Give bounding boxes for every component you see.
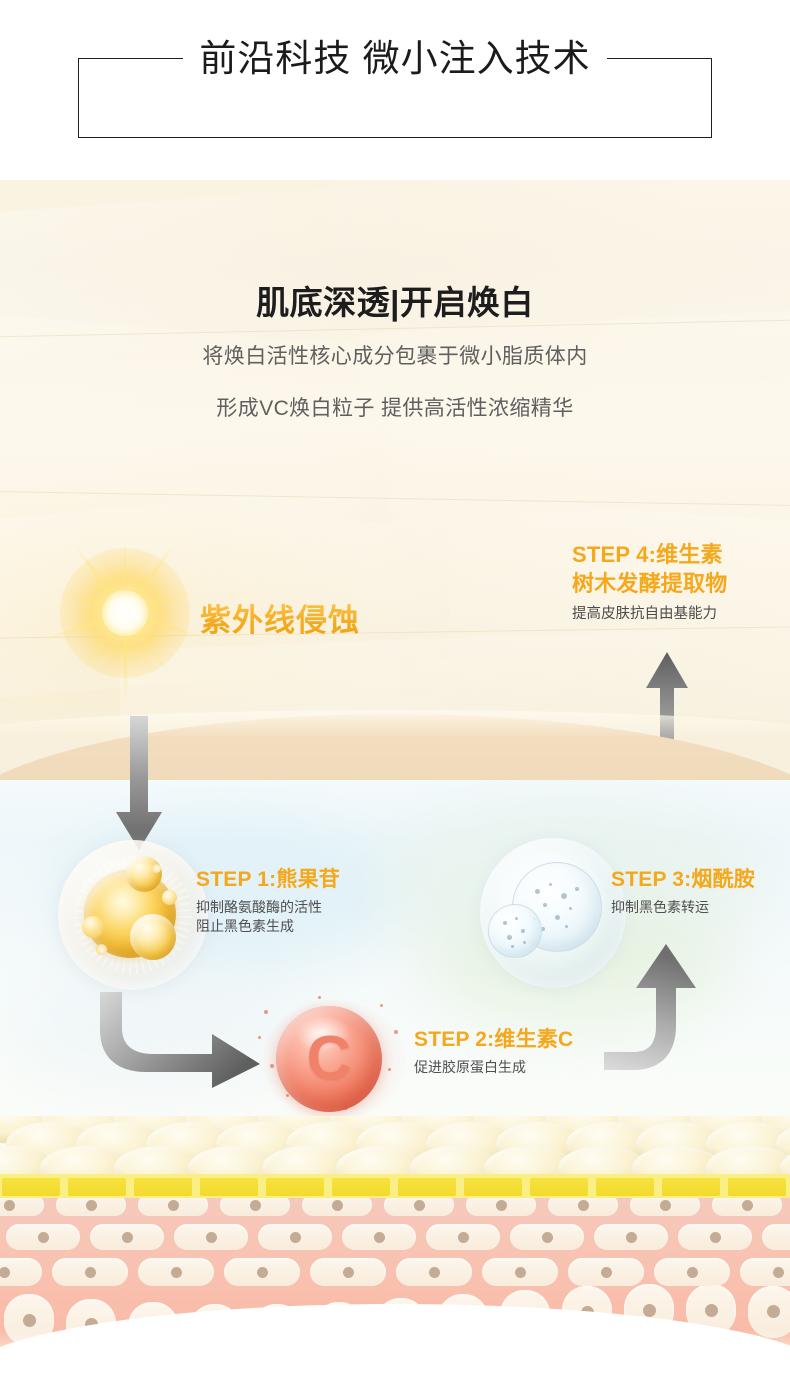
sphere-inner-small bbox=[488, 904, 542, 958]
cell-nucleus bbox=[343, 1267, 354, 1278]
dermis-cell bbox=[510, 1224, 584, 1250]
cell-nucleus bbox=[710, 1232, 721, 1243]
basal-cell-brick bbox=[266, 1178, 324, 1196]
hero-subtitle-1: 将焕白活性核心成分包裹于微小脂质体内 bbox=[0, 342, 790, 372]
infographic-page: 前沿科技 微小注入技术 肌底深透|开启焕白 将焕白活性核心成分包裹于微小脂质体内… bbox=[0, 0, 790, 1386]
cell-nucleus bbox=[206, 1232, 217, 1243]
cell-nucleus bbox=[414, 1200, 425, 1211]
header-title-wrap: 前沿科技 微小注入技术 bbox=[0, 28, 790, 90]
step-4-block: STEP 4:维生素 树木发酵提取物 提高皮肤抗自由基能力 bbox=[572, 540, 782, 624]
dermis-cell bbox=[630, 1198, 700, 1216]
step-2-vitamin-c-sphere: C bbox=[276, 1006, 382, 1112]
dermis-cell bbox=[6, 1224, 80, 1250]
basal-cell-brick bbox=[2, 1178, 60, 1196]
sphere-bubble bbox=[162, 890, 177, 905]
basal-cell-brick bbox=[68, 1178, 126, 1196]
dermis-cell bbox=[258, 1224, 332, 1250]
dermis-cell bbox=[138, 1258, 214, 1286]
basal-cell-brick bbox=[200, 1178, 258, 1196]
cell-nucleus bbox=[515, 1267, 526, 1278]
dermis-cell bbox=[396, 1258, 472, 1286]
dermis-cell bbox=[678, 1224, 752, 1250]
step-1-description-line-2: 阻止黑色素生成 bbox=[196, 917, 340, 936]
basal-cell-brick bbox=[530, 1178, 588, 1196]
cell-nucleus bbox=[257, 1267, 268, 1278]
step-2-block: STEP 2:维生素C 促进胶原蛋白生成 bbox=[414, 1026, 573, 1077]
cell-nucleus bbox=[0, 1267, 10, 1278]
arrow-curve-right-icon bbox=[100, 992, 264, 1088]
cell-nucleus bbox=[38, 1232, 49, 1243]
dermis-cell bbox=[220, 1198, 290, 1216]
sun-burst-icon bbox=[40, 528, 210, 698]
step-1-title: STEP 1:熊果苷 bbox=[196, 866, 340, 894]
step-3-description: 抑制黑色素转运 bbox=[611, 898, 755, 917]
cell-nucleus bbox=[687, 1267, 698, 1278]
cell-nucleus bbox=[742, 1200, 753, 1211]
basal-cell-brick bbox=[398, 1178, 456, 1196]
dermis-cell bbox=[466, 1198, 536, 1216]
page-title: 前沿科技 微小注入技术 bbox=[183, 29, 606, 89]
dermis-cell bbox=[310, 1258, 386, 1286]
cell-nucleus bbox=[705, 1304, 718, 1317]
step-1-description-line-1: 抑制酪氨酸酶的活性 bbox=[196, 898, 340, 917]
cell-nucleus bbox=[767, 1305, 780, 1318]
cell-nucleus bbox=[542, 1232, 553, 1243]
uv-erosion-label: 紫外线侵蚀 bbox=[200, 601, 360, 641]
cell-nucleus bbox=[496, 1200, 507, 1211]
cell-nucleus bbox=[374, 1232, 385, 1243]
basal-cell-brick bbox=[728, 1178, 786, 1196]
bottom-fade bbox=[0, 1330, 790, 1386]
basal-cell-brick bbox=[596, 1178, 654, 1196]
step-2-description: 促进胶原蛋白生成 bbox=[414, 1058, 573, 1077]
dermis-cell bbox=[224, 1258, 300, 1286]
sphere-bubble bbox=[152, 864, 161, 873]
vitamin-c-letter: C bbox=[276, 1006, 382, 1112]
cell-nucleus bbox=[660, 1200, 671, 1211]
dermis-cell bbox=[384, 1198, 454, 1216]
sphere-bubble bbox=[96, 944, 107, 955]
cell-nucleus bbox=[85, 1267, 96, 1278]
dermis-cell bbox=[654, 1258, 730, 1286]
basal-membrane-band bbox=[0, 1174, 790, 1200]
cell-nucleus bbox=[773, 1267, 784, 1278]
cell-nucleus bbox=[122, 1232, 133, 1243]
cell-nucleus bbox=[23, 1314, 36, 1327]
dermis-cell bbox=[548, 1198, 618, 1216]
step-4-title-line-1: STEP 4:维生素 bbox=[572, 540, 782, 569]
cell-nucleus bbox=[458, 1232, 469, 1243]
dermis-cell bbox=[594, 1224, 668, 1250]
basal-cell-brick bbox=[464, 1178, 522, 1196]
step-1-liposome-sphere bbox=[58, 840, 208, 990]
sphere-bubble bbox=[82, 916, 104, 938]
basal-cell-brick bbox=[332, 1178, 390, 1196]
dermis-cell bbox=[174, 1224, 248, 1250]
cell-nucleus bbox=[168, 1200, 179, 1211]
step-3-block: STEP 3:烟酰胺 抑制黑色素转运 bbox=[611, 866, 755, 917]
cell-nucleus bbox=[250, 1200, 261, 1211]
hero-subtitle-2: 形成VC焕白粒子 提供高活性浓缩精华 bbox=[0, 394, 790, 424]
step-4-title-line-2: 树木发酵提取物 bbox=[572, 569, 782, 598]
hero-heading: 肌底深透|开启焕白 bbox=[0, 283, 790, 323]
dermis-cell bbox=[0, 1258, 42, 1286]
dermis-cell bbox=[56, 1198, 126, 1216]
cell-nucleus bbox=[601, 1267, 612, 1278]
dermis-cell bbox=[0, 1198, 44, 1216]
cell-nucleus bbox=[626, 1232, 637, 1243]
basal-cell-brick bbox=[662, 1178, 720, 1196]
dermis-cell bbox=[740, 1258, 790, 1286]
dermis-cell bbox=[138, 1198, 208, 1216]
cell-nucleus bbox=[429, 1267, 440, 1278]
arrow-down-icon bbox=[112, 716, 166, 856]
cell-nucleus bbox=[86, 1200, 97, 1211]
cell-nucleus bbox=[578, 1200, 589, 1211]
sphere-bubble bbox=[126, 856, 162, 892]
cell-nucleus bbox=[332, 1200, 343, 1211]
cell-nucleus bbox=[290, 1232, 301, 1243]
basal-cell-brick bbox=[134, 1178, 192, 1196]
cell-nucleus bbox=[171, 1267, 182, 1278]
dermis-cell bbox=[762, 1224, 790, 1250]
arrow-curve-up-icon bbox=[604, 940, 728, 1070]
dermis-cell bbox=[712, 1198, 782, 1216]
sphere-bubble bbox=[130, 914, 176, 960]
dermis-cell bbox=[52, 1258, 128, 1286]
step-1-block: STEP 1:熊果苷 抑制酪氨酸酶的活性 阻止黑色素生成 bbox=[196, 866, 340, 936]
sun-core bbox=[102, 590, 148, 636]
dermis-cell bbox=[426, 1224, 500, 1250]
step-3-title: STEP 3:烟酰胺 bbox=[611, 866, 755, 894]
step-4-description: 提高皮肤抗自由基能力 bbox=[572, 604, 782, 624]
cell-nucleus bbox=[643, 1304, 656, 1317]
dermis-cell bbox=[568, 1258, 644, 1286]
dermis-cell bbox=[302, 1198, 372, 1216]
header-section: 前沿科技 微小注入技术 bbox=[0, 0, 790, 180]
dermis-cell bbox=[482, 1258, 558, 1286]
dermis-cell bbox=[90, 1224, 164, 1250]
step-2-title: STEP 2:维生素C bbox=[414, 1026, 573, 1054]
dermis-cell bbox=[342, 1224, 416, 1250]
cell-nucleus bbox=[4, 1200, 15, 1211]
